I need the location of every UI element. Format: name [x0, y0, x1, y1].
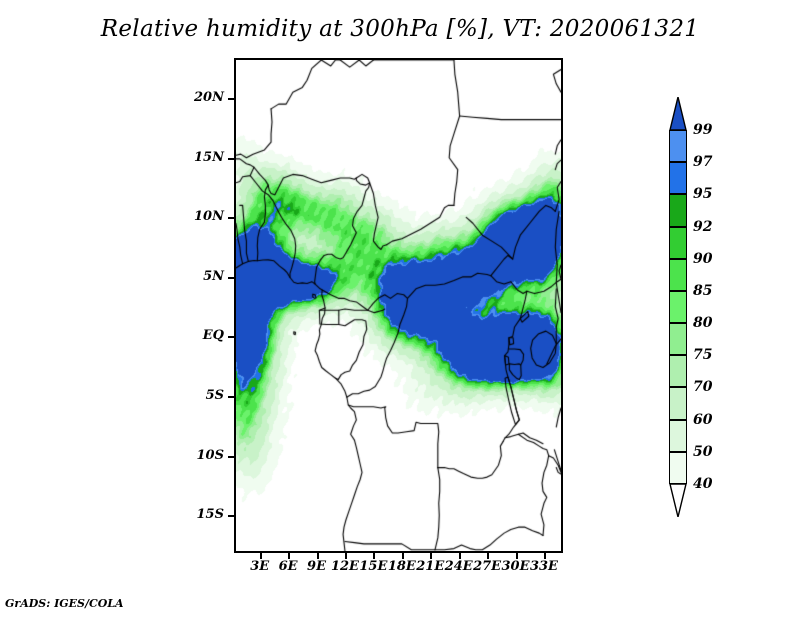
y-tick-label: 10S: [176, 448, 224, 463]
colorbar-band: [669, 259, 687, 291]
colorbar-band: [669, 420, 687, 452]
colorbar: [669, 97, 687, 517]
colorbar-tick-label: 50: [693, 444, 712, 460]
colorbar-band: [669, 323, 687, 355]
colorbar-over-arrow: [669, 97, 687, 130]
colorbar-band: [669, 162, 687, 194]
y-tick-mark: [228, 277, 234, 279]
x-tick-mark: [487, 553, 489, 559]
colorbar-tick-label: 97: [693, 154, 712, 170]
y-tick-mark: [228, 336, 234, 338]
x-tick-mark: [516, 553, 518, 559]
y-tick-mark: [228, 515, 234, 517]
colorbar-band: [669, 355, 687, 387]
x-tick-mark: [430, 553, 432, 559]
colorbar-tick-label: 85: [693, 283, 712, 299]
x-tick-mark: [317, 553, 319, 559]
y-tick-mark: [228, 98, 234, 100]
colorbar-tick-label: 95: [693, 186, 712, 202]
x-tick-mark: [459, 553, 461, 559]
y-tick-label: 15S: [176, 507, 224, 522]
x-tick-mark: [345, 553, 347, 559]
colorbar-band: [669, 291, 687, 323]
x-tick-mark: [260, 553, 262, 559]
x-tick-label: 33E: [522, 559, 566, 574]
colorbar-tick-label: 90: [693, 251, 712, 267]
page-title: Relative humidity at 300hPa [%], VT: 202…: [0, 16, 800, 42]
colorbar-tick-label: 40: [693, 476, 712, 492]
footer-credit: GrADS: IGES/COLA: [5, 597, 124, 610]
colorbar-tick-label: 75: [693, 347, 712, 363]
x-tick-mark: [402, 553, 404, 559]
country-borders-canvas: [236, 60, 561, 551]
y-tick-label: EQ: [176, 328, 224, 343]
colorbar-band: [669, 227, 687, 259]
x-tick-mark: [544, 553, 546, 559]
grads-plot-page: Relative humidity at 300hPa [%], VT: 202…: [0, 0, 800, 618]
colorbar-band: [669, 194, 687, 226]
y-tick-mark: [228, 158, 234, 160]
y-tick-label: 5N: [176, 269, 224, 284]
colorbar-tick-label: 92: [693, 219, 712, 235]
x-tick-mark: [373, 553, 375, 559]
y-tick-label: 5S: [176, 388, 224, 403]
colorbar-band: [669, 130, 687, 162]
colorbar-under-arrow: [669, 484, 687, 517]
y-tick-mark: [228, 456, 234, 458]
y-tick-mark: [228, 396, 234, 398]
colorbar-tick-label: 60: [693, 412, 712, 428]
colorbar-band: [669, 452, 687, 484]
x-tick-mark: [288, 553, 290, 559]
y-tick-label: 20N: [176, 90, 224, 105]
map-plot-area: [234, 58, 563, 553]
y-tick-label: 10N: [176, 209, 224, 224]
y-tick-label: 15N: [176, 150, 224, 165]
colorbar-band: [669, 387, 687, 419]
colorbar-tick-label: 70: [693, 379, 712, 395]
colorbar-tick-label: 80: [693, 315, 712, 331]
colorbar-tick-label: 99: [693, 122, 712, 138]
y-tick-mark: [228, 217, 234, 219]
